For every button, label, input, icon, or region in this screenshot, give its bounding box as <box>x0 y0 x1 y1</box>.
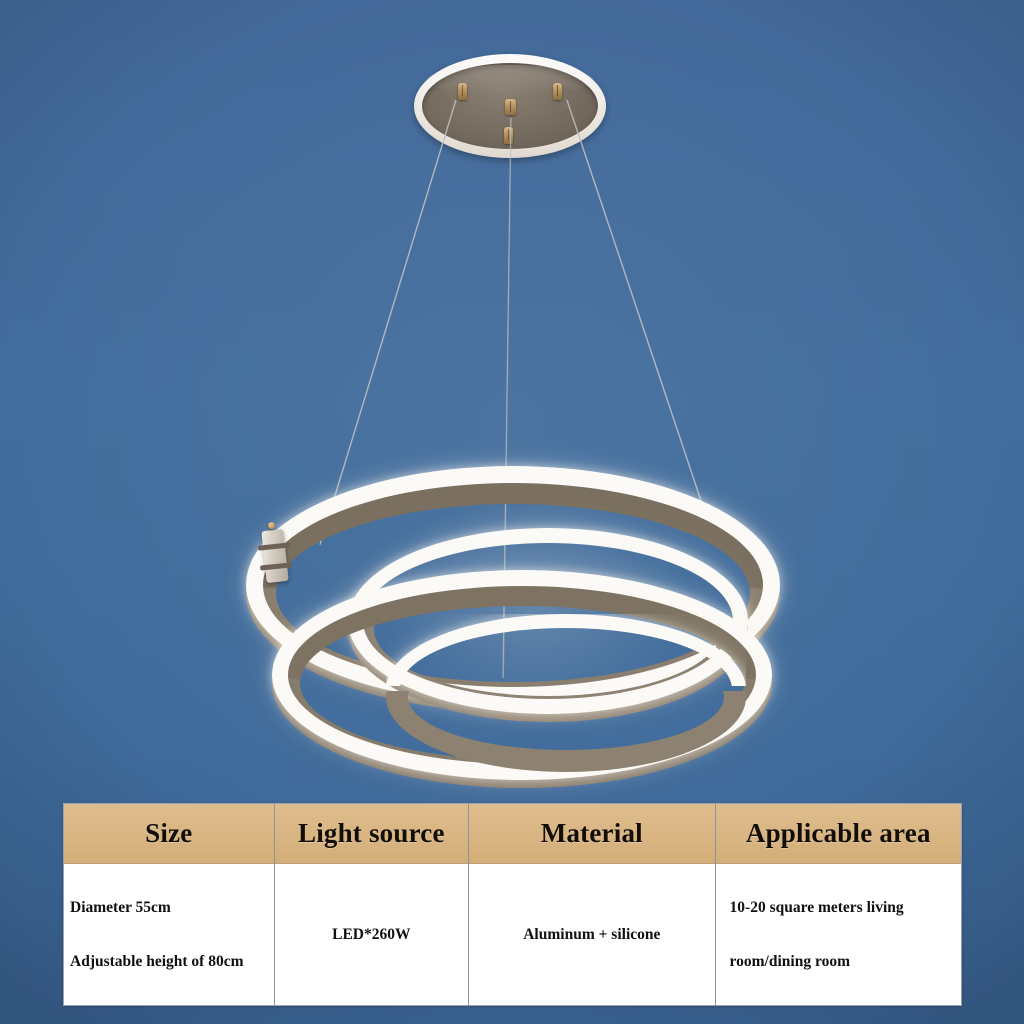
spec-cell-size: Diameter 55cm Adjustable height of 80cm <box>64 864 274 1005</box>
spec-cell-applicable-area: 10-20 square meters living room/dining r… <box>716 864 961 1005</box>
spec-area-line-1: 10-20 square meters living <box>730 898 904 918</box>
canopy-highlight <box>426 65 594 95</box>
spec-column-material: Material Aluminum + silicone <box>469 804 715 1005</box>
canopy-connector-post-center <box>505 99 516 115</box>
spec-size-line-1: Diameter 55cm <box>70 898 171 918</box>
canopy-connector-post-right <box>553 83 562 100</box>
spec-light-source-line-1: LED*260W <box>332 925 410 945</box>
spec-material-line-1: Aluminum + silicone <box>523 925 660 945</box>
spec-column-size: Size Diameter 55cm Adjustable height of … <box>64 804 275 1005</box>
spec-cell-light-source: LED*260W <box>275 864 469 1005</box>
spec-cell-material: Aluminum + silicone <box>469 864 714 1005</box>
spec-header-material: Material <box>469 804 714 864</box>
spec-header-light-source: Light source <box>275 804 469 864</box>
spec-area-line-2: room/dining room <box>730 952 850 972</box>
spiral-pendant-fixture <box>236 452 792 752</box>
spec-column-applicable-area: Applicable area 10-20 square meters livi… <box>716 804 961 1005</box>
product-image-stage: Size Diameter 55cm Adjustable height of … <box>0 0 1024 1024</box>
spec-size-line-2: Adjustable height of 80cm <box>70 952 244 972</box>
spec-header-applicable-area: Applicable area <box>716 804 961 864</box>
bracket-screw <box>268 522 275 529</box>
spec-column-light-source: Light source LED*260W <box>275 804 470 1005</box>
specification-table: Size Diameter 55cm Adjustable height of … <box>63 803 962 1006</box>
spec-header-size: Size <box>64 804 274 864</box>
canopy-connector-post-left <box>458 83 467 100</box>
